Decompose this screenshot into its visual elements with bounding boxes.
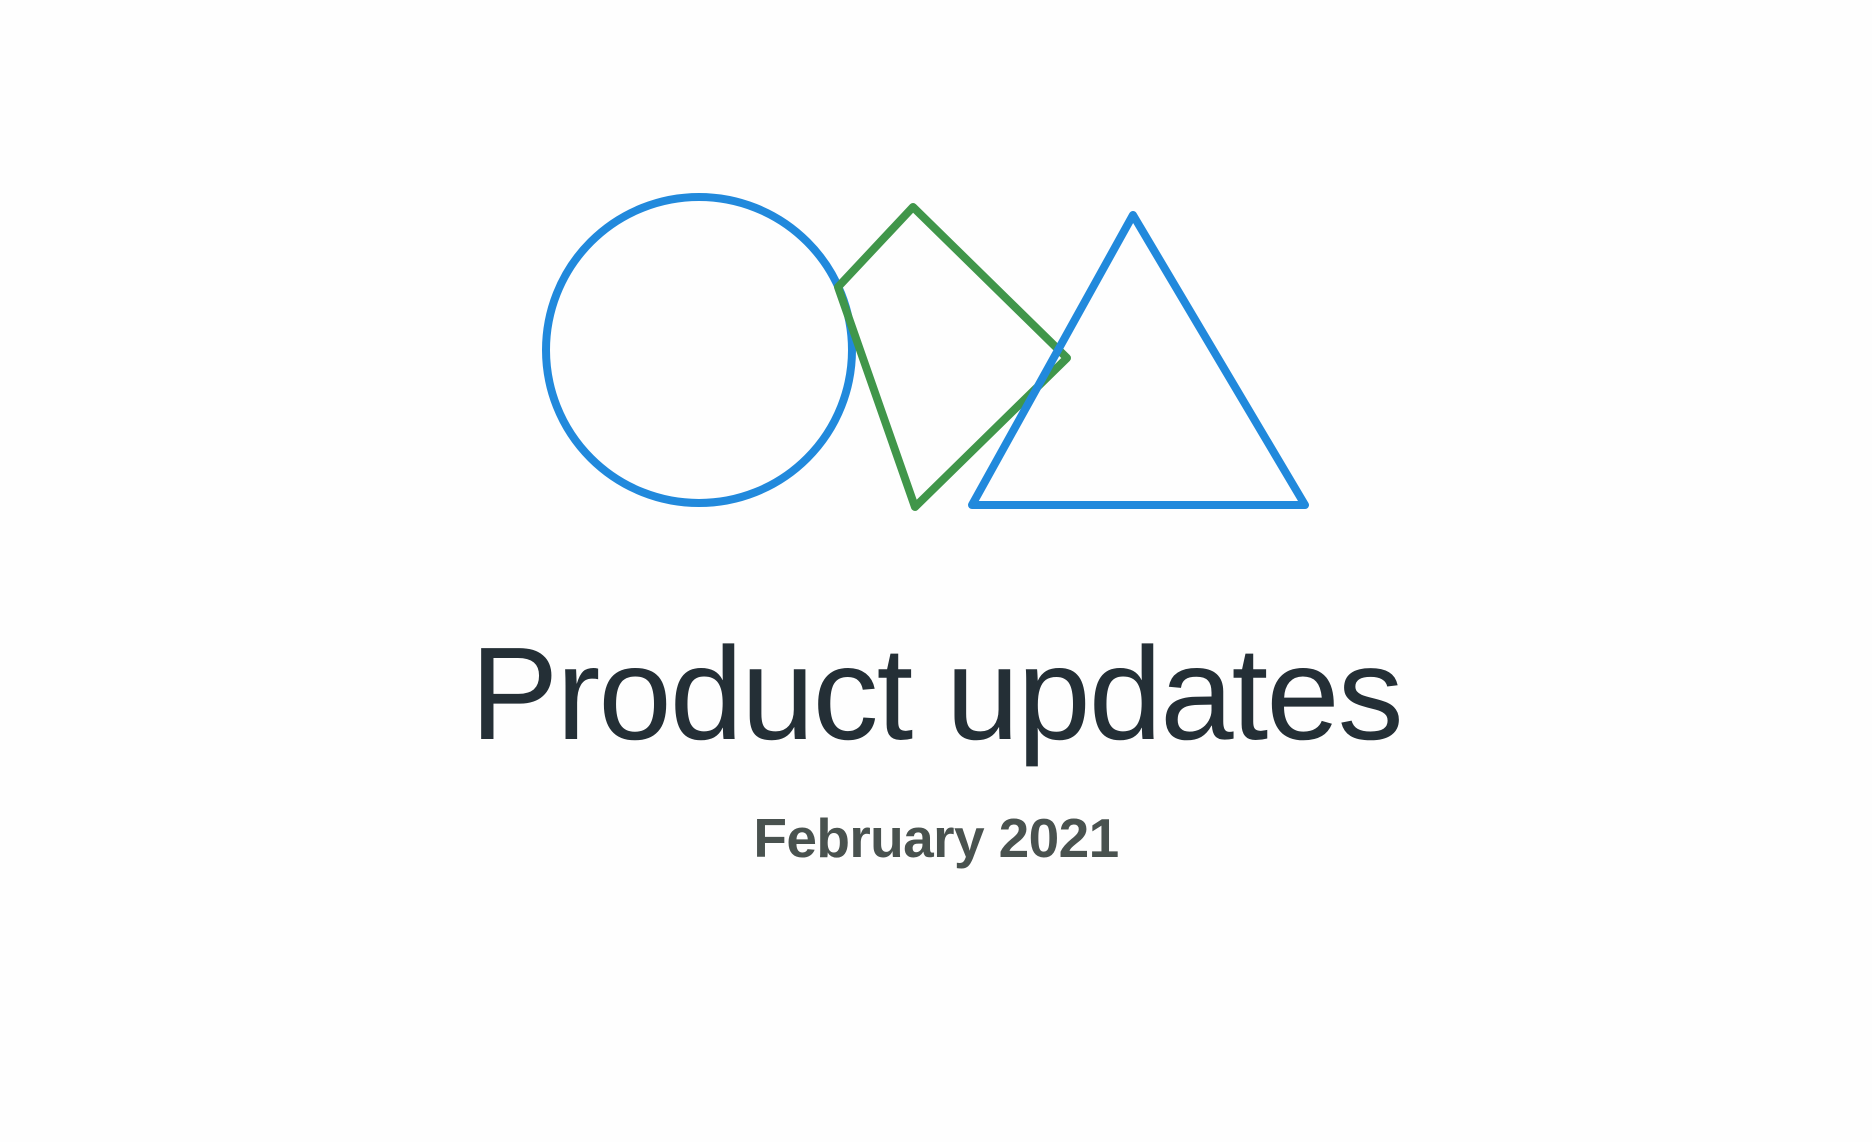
three-shapes-logo [0, 0, 1872, 620]
product-updates-slide: Product updates February 2021 [0, 0, 1872, 1142]
text-block: Product updates February 2021 [0, 625, 1872, 868]
diamond-shape [838, 207, 1067, 507]
page-subtitle: February 2021 [0, 764, 1872, 869]
logo-container [0, 0, 1872, 620]
triangle-shape [972, 215, 1305, 505]
page-title: Product updates [0, 625, 1872, 764]
circle-shape [546, 197, 852, 503]
